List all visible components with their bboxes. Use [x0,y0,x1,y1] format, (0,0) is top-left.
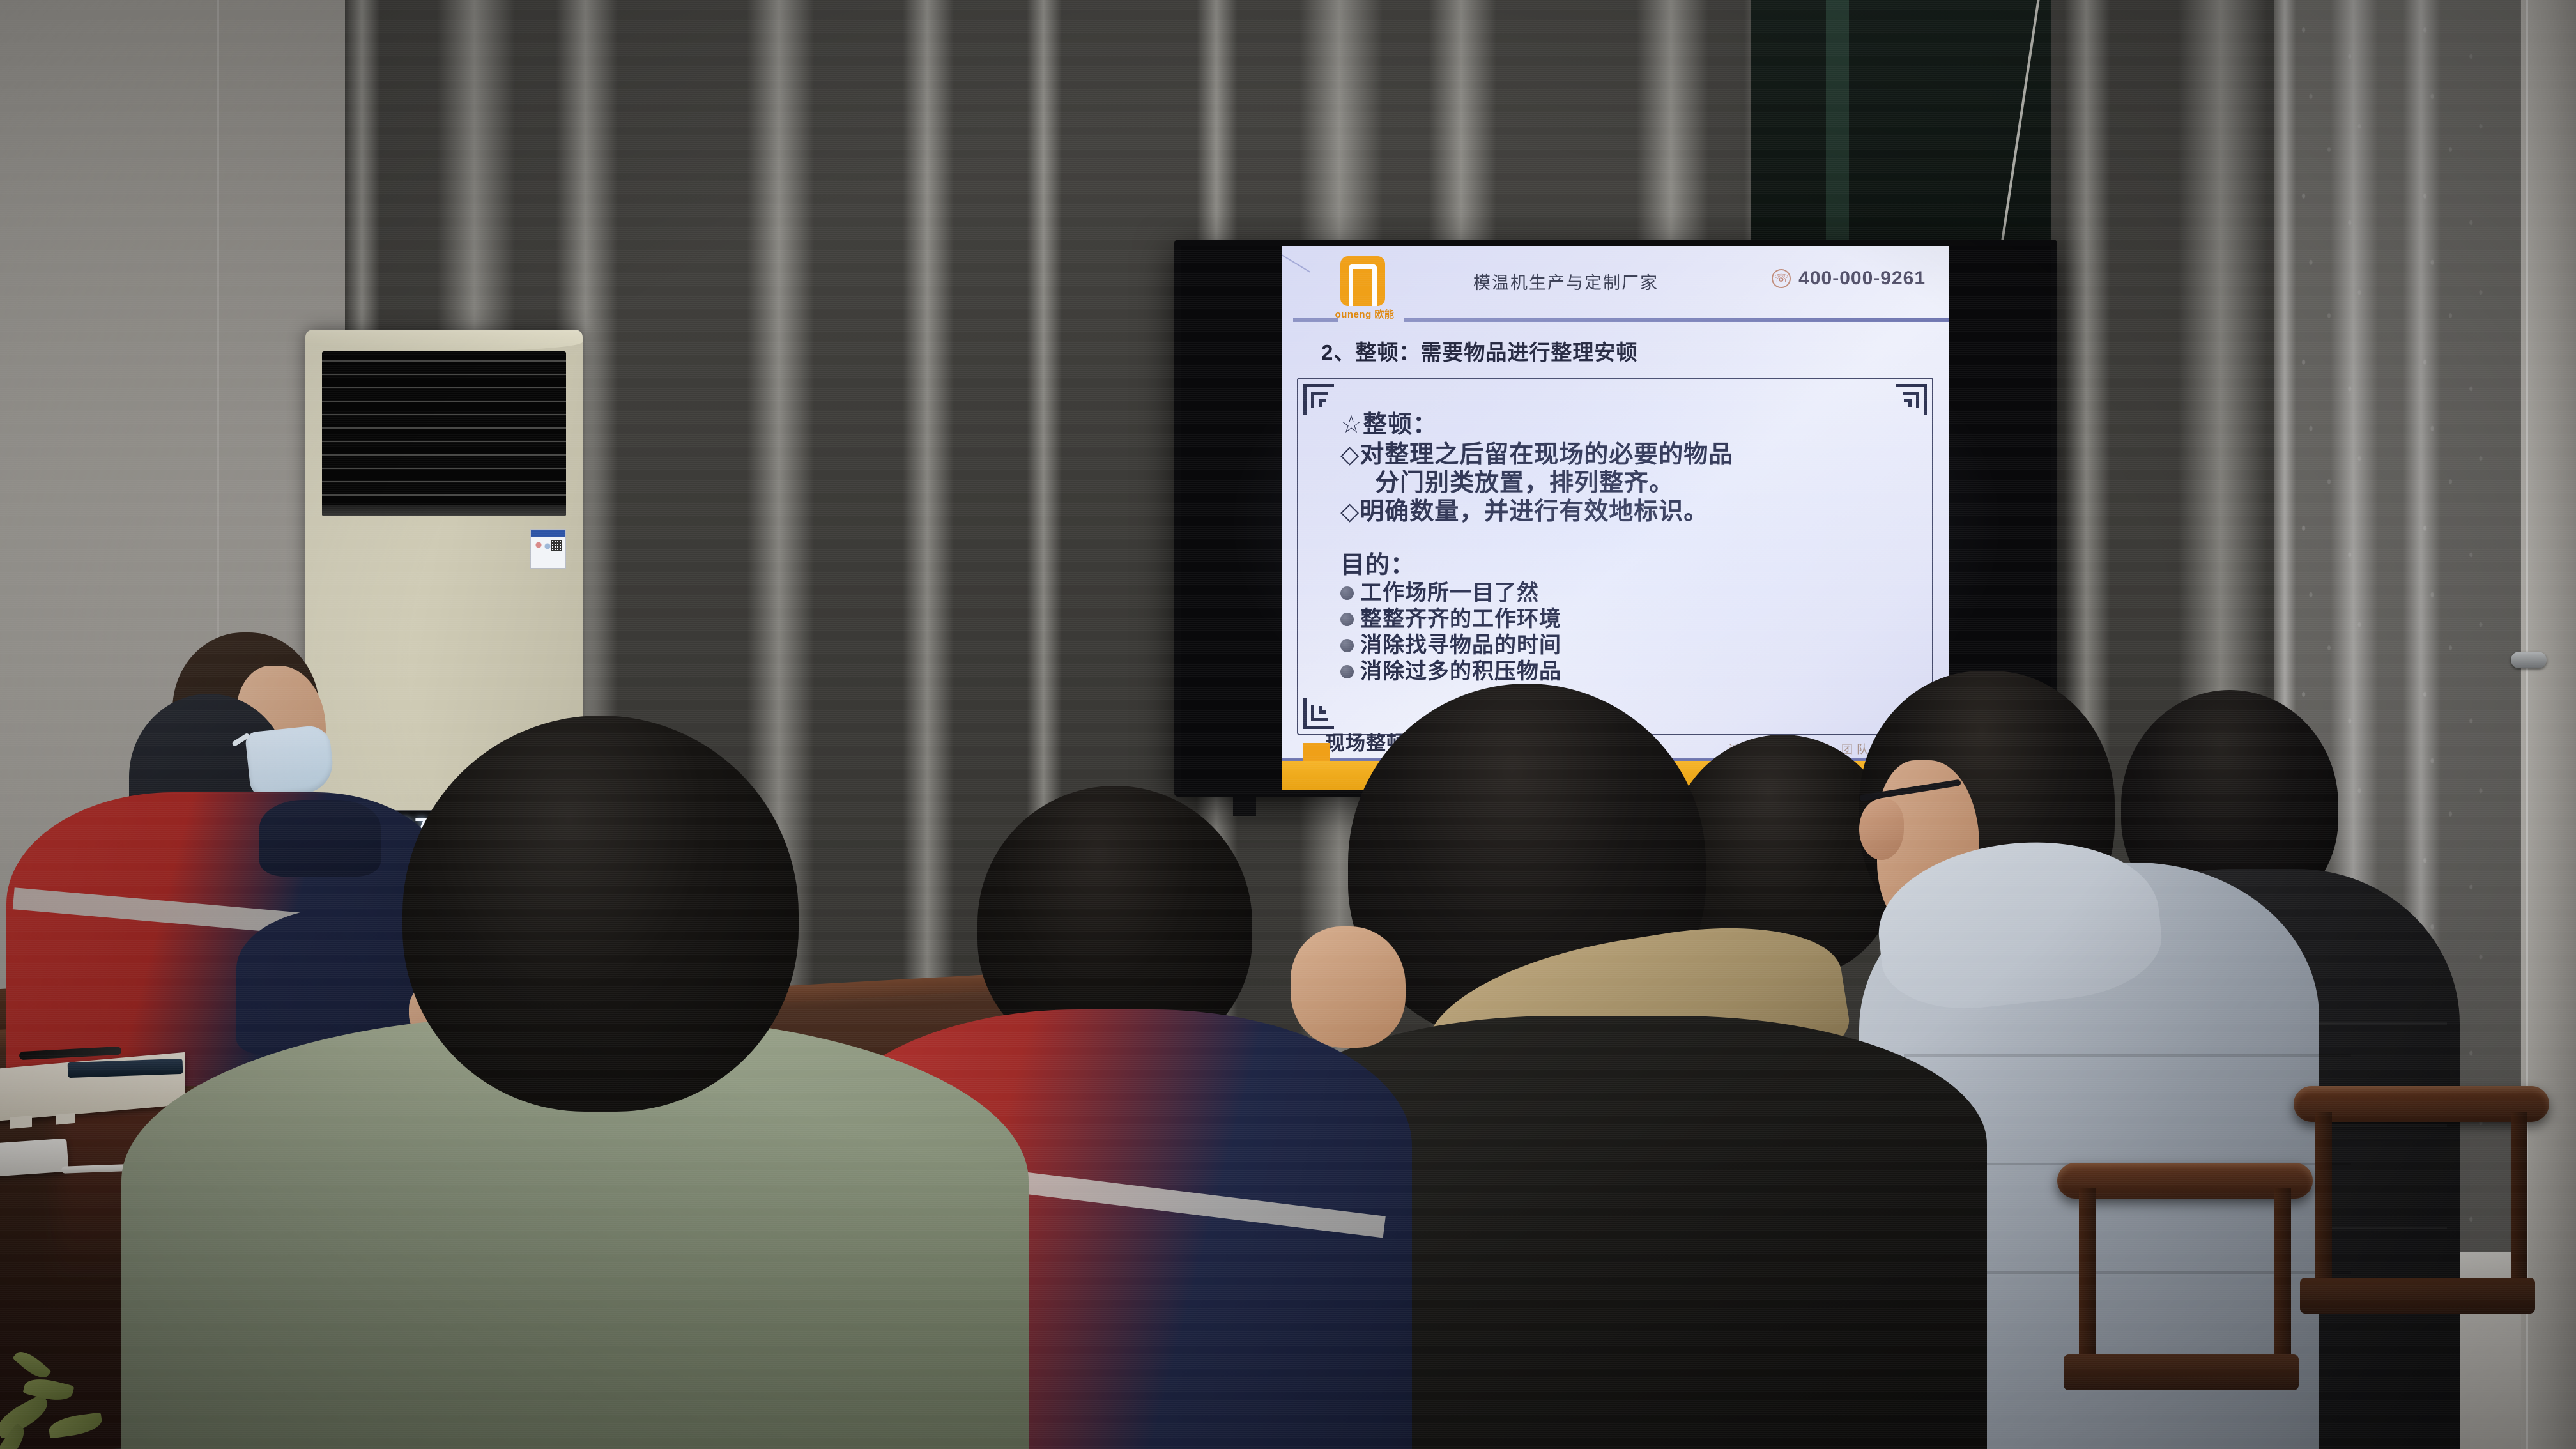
slide-header: ouneng 欧能 模温机生产与定制厂家 ☏ 400-000-9261 [1282,254,1949,329]
slide-purpose-label: 目的： [1340,545,1910,580]
bullet-dot-icon [1340,639,1354,652]
slide-body-line: ◇对整理之后留在现场的必要的物品 [1340,441,1910,469]
header-rule [1404,318,1949,322]
ac-vent-lip [322,505,566,516]
plant-leaves [0,1354,121,1449]
slide-title: 2、整顿：需要物品进行整理安顿 [1321,335,1637,366]
slide-body: ☆整顿： ◇对整理之后留在现场的必要的物品 分门别类放置，排列整齐。 ◇明确数量… [1340,404,1910,685]
slide-purpose-item: 工作场所一目了然 [1340,580,1910,606]
slide-phone-number: 400-000-9261 [1798,268,1926,289]
slide-body-line: 分门别类放置，排列整齐。 [1340,469,1910,497]
empty-chair-near[interactable] [2057,1163,2313,1431]
chair-seat [2300,1278,2535,1314]
bullet-dot-icon [1340,586,1354,600]
slide-purpose-item-label: 消除过多的积压物品 [1360,659,1561,685]
slide-purpose-item: 整整齐齐的工作环境 [1340,606,1910,632]
slide-body-line: ◇明确数量，并进行有效地标识。 [1340,498,1910,526]
window-handle[interactable] [2511,652,2547,668]
slide-body-heading: ☆整顿： [1340,404,1910,440]
attendee-front-olive-jacket [211,716,952,1449]
window-glass [1826,0,1849,275]
phone-icon: ☏ [1772,269,1791,288]
chair-seat [2064,1354,2299,1390]
ac-top-cover [305,330,583,351]
meander-ornament-top-left [1303,384,1343,424]
bullet-dot-icon [1340,613,1354,626]
window-recess-dark [1751,0,2051,275]
empty-chair-far[interactable] [2294,1086,2549,1361]
slide-tagline: 模温机生产与定制厂家 [1473,269,1659,294]
company-logo-icon [1340,256,1385,306]
ac-energy-label [530,529,566,569]
power-strip[interactable] [0,1138,69,1177]
slide-purpose-item-label: 工作场所一目了然 [1360,580,1539,606]
qr-code-icon [551,540,562,551]
bullet-dot-icon [1340,665,1354,678]
ac-vent-louvers [322,351,566,516]
slide-contact: ☏ 400-000-9261 [1772,268,1926,289]
meeting-room-photo: 27 °C ouneng 欧能 模温机生产与定制厂家 ☏ 400-000-926… [0,0,2576,1449]
slide-purpose-item-label: 整整齐齐的工作环境 [1360,606,1561,632]
attendee-head [402,716,799,1112]
header-rule-stub [1293,318,1338,322]
slide-purpose-item-label: 消除找寻物品的时间 [1360,632,1561,659]
